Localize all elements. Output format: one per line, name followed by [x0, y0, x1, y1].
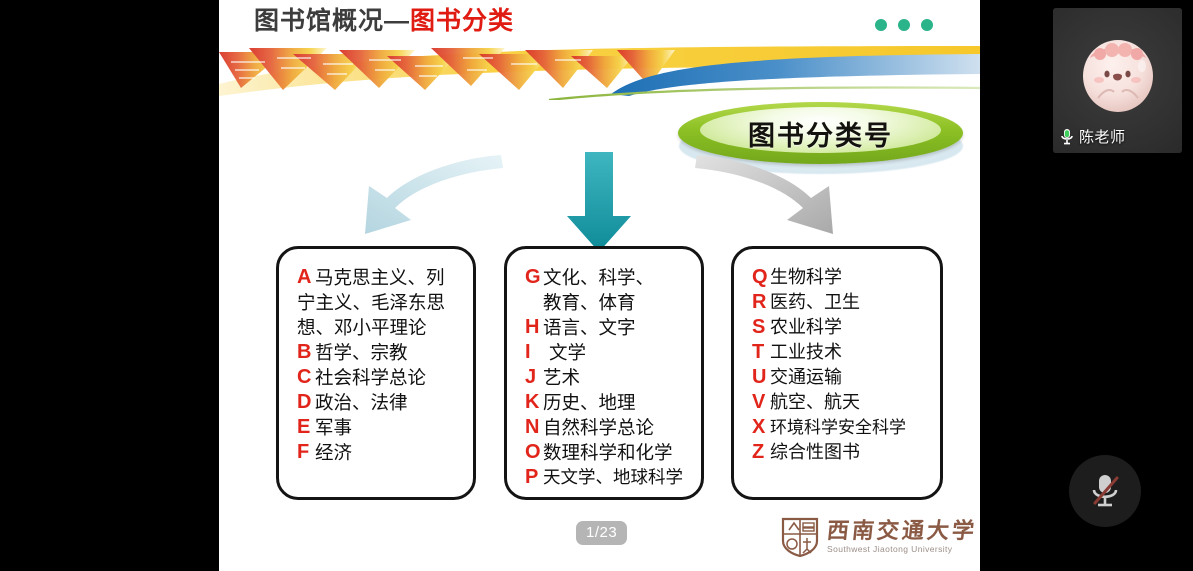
university-crest-icon: [781, 517, 819, 557]
category-text: 政治、法律: [315, 390, 408, 415]
slide-title-main: 图书馆概况—: [254, 7, 410, 35]
mute-toggle-button[interactable]: [1069, 455, 1141, 527]
category-text: 军事: [315, 415, 352, 440]
category-text: 艺术: [543, 365, 580, 390]
cartoon-avatar-icon: [1080, 36, 1156, 114]
dot-icon: [875, 19, 887, 31]
decorative-dots: [875, 19, 933, 31]
university-name-en: Southwest Jiaotong University: [827, 545, 977, 554]
decorative-banner: [219, 44, 980, 100]
category-text: 生物科学: [770, 265, 842, 290]
category-text: 语言、文字: [543, 315, 636, 340]
category-entry: C社会科学总论: [297, 365, 463, 390]
category-text: 医药、卫生: [770, 290, 860, 315]
category-entry: R医药、卫生: [752, 290, 930, 315]
category-letter: B: [297, 340, 315, 365]
category-entry: K历史、地理: [525, 390, 691, 415]
dot-icon: [921, 19, 933, 31]
category-entry: P天文学、地球科学: [525, 465, 691, 490]
category-letter: C: [297, 365, 315, 390]
category-text: 数理科学和化学: [543, 440, 673, 465]
category-text: 文学: [543, 340, 586, 365]
category-entry: V航空、航天: [752, 390, 930, 415]
category-entry: T工业技术: [752, 340, 930, 365]
oval-label: 图书分类号: [670, 96, 971, 170]
university-logo: 西南交通大学 Southwest Jiaotong University: [781, 517, 977, 557]
category-letter: I: [525, 340, 543, 365]
category-letter: A: [297, 265, 315, 290]
participant-name: 陈老师: [1079, 126, 1126, 147]
category-entry: A马克思主义、列: [297, 265, 463, 290]
category-text: 天文学、地球科学: [543, 465, 683, 490]
presentation-slide[interactable]: 图书馆概况—图书分类: [219, 0, 980, 571]
category-letter: F: [297, 440, 315, 465]
category-letter: J: [525, 365, 543, 390]
category-text: 历史、地理: [543, 390, 636, 415]
arrow-left-curved-icon: [365, 155, 503, 234]
category-letter: G: [525, 265, 543, 290]
category-text: 交通运输: [770, 365, 842, 390]
category-text: 社会科学总论: [315, 365, 426, 390]
category-boxes: A马克思主义、列 宁主义、毛泽东思 想、邓小平理论 B哲学、宗教 C社会科学总论…: [219, 246, 980, 501]
category-letter: U: [752, 365, 770, 390]
category-text: 环境科学安全科学: [770, 415, 906, 440]
category-text: 经济: [315, 440, 352, 465]
category-letter: D: [297, 390, 315, 415]
category-entry: S农业科学: [752, 315, 930, 340]
slide-title-accent: 图书分类: [410, 7, 514, 35]
category-letter: Z: [752, 440, 770, 465]
category-entry: O数理科学和化学: [525, 440, 691, 465]
category-box-2[interactable]: G文化、科学、 教育、体育 H语言、文字 I文学 J艺术 K历史、地理 N自然科…: [504, 246, 704, 500]
central-oval: 图书分类号: [670, 96, 970, 176]
category-text: 文化、科学、: [543, 265, 654, 290]
category-text: 马克思主义、列: [315, 265, 445, 290]
category-letter: T: [752, 340, 770, 365]
category-entry: D政治、法律: [297, 390, 463, 415]
slide-title: 图书馆概况—图书分类: [254, 6, 514, 37]
category-entry: B哲学、宗教: [297, 340, 463, 365]
category-letter: V: [752, 390, 770, 415]
category-letter: N: [525, 415, 543, 440]
category-entry: U交通运输: [752, 365, 930, 390]
university-names: 西南交通大学 Southwest Jiaotong University: [827, 520, 977, 554]
category-entry: G文化、科学、: [525, 265, 691, 290]
dot-icon: [898, 19, 910, 31]
category-text: 农业科学: [770, 315, 842, 340]
category-text-cont: 宁主义、毛泽东思: [297, 290, 463, 315]
category-entry: Q生物科学: [752, 265, 930, 290]
participant-video-tile[interactable]: 陈老师: [1053, 8, 1182, 153]
category-letter: P: [525, 465, 543, 490]
microphone-icon: [1059, 128, 1075, 146]
category-letter: S: [752, 315, 770, 340]
banner-graphic: [219, 44, 980, 100]
category-entry: N自然科学总论: [525, 415, 691, 440]
category-entry: X环境科学安全科学: [752, 415, 930, 440]
page-indicator: 1/23: [576, 521, 627, 545]
app-root: 图书馆概况—图书分类: [0, 0, 1193, 571]
category-letter: X: [752, 415, 770, 440]
category-box-1[interactable]: A马克思主义、列 宁主义、毛泽东思 想、邓小平理论 B哲学、宗教 C社会科学总论…: [276, 246, 476, 500]
category-text-cont: 教育、体育: [525, 290, 691, 315]
category-letter: K: [525, 390, 543, 415]
category-entry: F经济: [297, 440, 463, 465]
category-letter: H: [525, 315, 543, 340]
category-text: 自然科学总论: [543, 415, 654, 440]
university-name-cn: 西南交通大学: [826, 520, 978, 542]
category-entry: I文学: [525, 340, 691, 365]
category-letter: R: [752, 290, 770, 315]
category-letter: O: [525, 440, 543, 465]
category-entry: Z综合性图书: [752, 440, 930, 465]
category-box-3[interactable]: Q生物科学 R医药、卫生 S农业科学 T工业技术 U交通运输 V航空、航天 X环…: [731, 246, 943, 500]
category-entry: H语言、文字: [525, 315, 691, 340]
category-letter: Q: [752, 265, 770, 290]
category-entry: J艺术: [525, 365, 691, 390]
category-text-cont: 想、邓小平理论: [297, 315, 463, 340]
tile-footer: 陈老师: [1059, 126, 1126, 147]
category-text: 综合性图书: [770, 440, 860, 465]
arrow-center-down-icon: [567, 152, 631, 252]
category-text: 航空、航天: [770, 390, 860, 415]
category-text: 工业技术: [770, 340, 842, 365]
category-entry: E军事: [297, 415, 463, 440]
category-text: 哲学、宗教: [315, 340, 408, 365]
category-letter: E: [297, 415, 315, 440]
microphone-muted-icon: [1088, 472, 1122, 510]
